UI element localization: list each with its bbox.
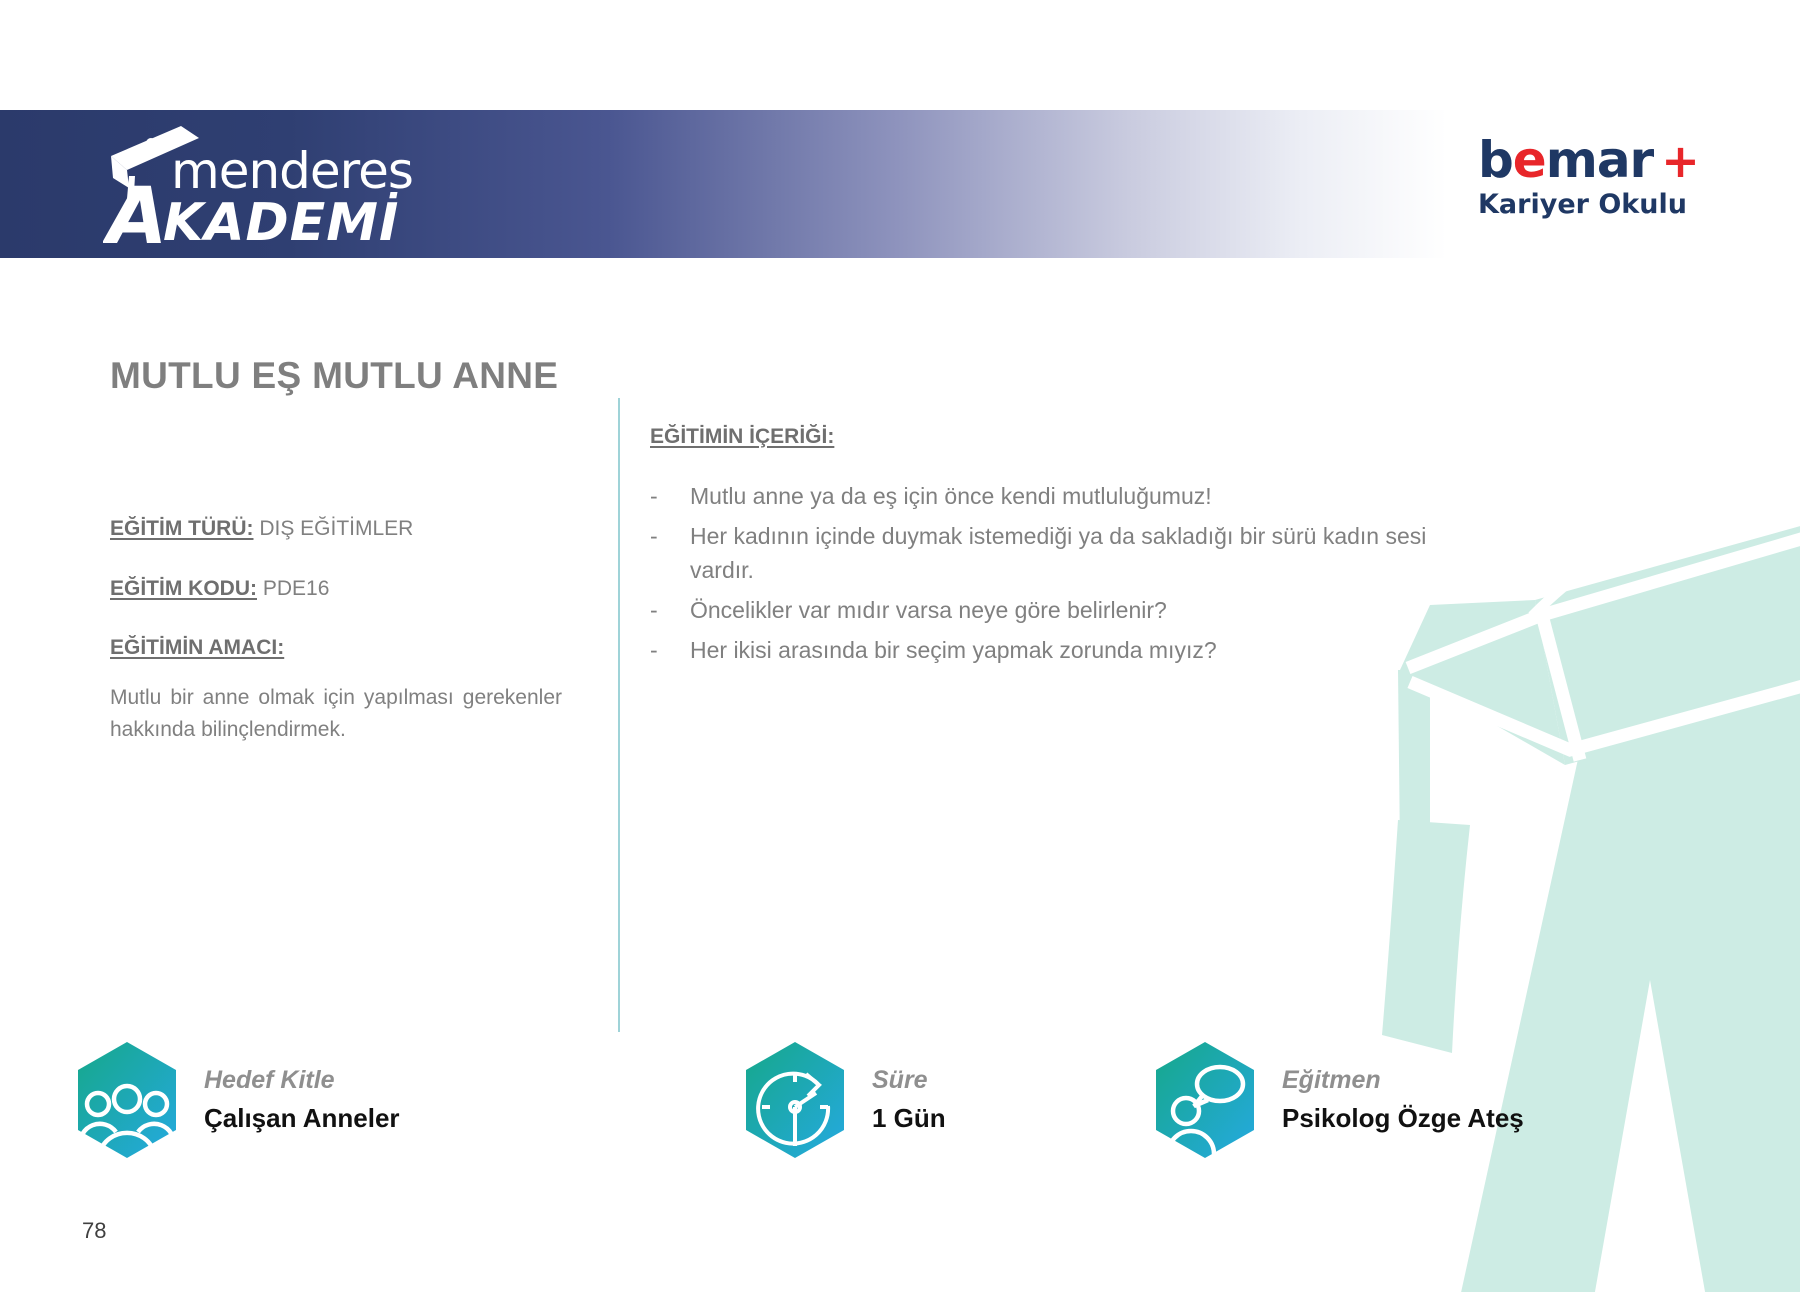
badge-value: Çalışan Anneler (204, 1102, 400, 1135)
badge-label: Hedef Kitle (204, 1065, 400, 1096)
training-purpose-label: EĞİTİMİN AMACI: (110, 636, 284, 660)
badge-label: Süre (872, 1065, 946, 1096)
badge-duration: Süre 1 Gün (740, 1040, 946, 1160)
page-number: 78 (82, 1218, 106, 1244)
bemar-subtitle: Kariyer Okulu (1478, 191, 1699, 218)
badge-text-block: Süre 1 Gün (872, 1065, 946, 1135)
bemar-kariyer-okulu-logo: bemar+ Kariyer Okulu (1478, 135, 1699, 218)
badge-target-audience: Hedef Kitle Çalışan Anneler (72, 1040, 400, 1160)
people-group-icon (72, 1040, 182, 1160)
list-item: - Mutlu anne ya da eş için önce kendi mu… (650, 479, 1430, 513)
svg-text:A: A (103, 172, 167, 248)
training-type-value: DIŞ EĞİTİMLER (259, 517, 413, 540)
bemar-letters-mar: mar (1546, 131, 1654, 189)
left-column: EĞİTİM TÜRÜ: DIŞ EĞİTİMLER EĞİTİM KODU: … (110, 515, 565, 747)
training-type-row: EĞİTİM TÜRÜ: DIŞ EĞİTİMLER (110, 515, 565, 543)
list-item: - Her ikisi arasında bir seçim yapmak zo… (650, 633, 1430, 667)
badge-text-block: Hedef Kitle Çalışan Anneler (204, 1065, 400, 1135)
bullet-text: Öncelikler var mıdır varsa neye göre bel… (690, 593, 1430, 627)
person-speech-bubble-icon (1150, 1040, 1260, 1160)
bullet-text: Her ikisi arasında bir seçim yapmak zoru… (690, 633, 1430, 667)
right-column: EĞİTİMİN İÇERİĞİ: - Mutlu anne ya da eş … (650, 425, 1430, 673)
bullet-dash-icon: - (650, 593, 690, 627)
training-purpose-block: EĞİTİMİN AMACI: Mutlu bir anne olmak içi… (110, 636, 565, 747)
svg-text:KADEMİ: KADEMİ (163, 192, 399, 248)
bullet-dash-icon: - (650, 519, 690, 587)
badge-label: Eğitmen (1282, 1065, 1524, 1096)
bemar-wordmark: bemar+ (1478, 135, 1699, 185)
clock-icon (740, 1040, 850, 1160)
badge-trainer: Eğitmen Psikolog Özge Ateş (1150, 1040, 1524, 1160)
list-item: - Öncelikler var mıdır varsa neye göre b… (650, 593, 1430, 627)
badge-text-block: Eğitmen Psikolog Özge Ateş (1282, 1065, 1524, 1135)
bullet-text: Her kadının içinde duymak istemediği ya … (690, 519, 1430, 587)
column-divider (618, 398, 620, 1032)
badge-value: 1 Gün (872, 1102, 946, 1135)
bullet-dash-icon: - (650, 633, 690, 667)
training-content-list: - Mutlu anne ya da eş için önce kendi mu… (650, 479, 1430, 667)
bemar-plus-sign: + (1661, 134, 1699, 188)
training-code-value: PDE16 (263, 577, 330, 600)
training-code-row: EĞİTİM KODU: PDE16 (110, 575, 565, 603)
bemar-letter-b: b (1478, 131, 1513, 189)
training-content-label: EĞİTİMİN İÇERİĞİ: (650, 425, 834, 449)
training-type-label: EĞİTİM TÜRÜ: (110, 517, 253, 540)
bemar-letter-e: e (1513, 131, 1546, 189)
training-purpose-text: Mutlu bir anne olmak için yapılması gere… (110, 682, 562, 747)
bullet-text: Mutlu anne ya da eş için önce kendi mutl… (690, 479, 1430, 513)
svg-text:menderes: menderes (171, 142, 413, 200)
badge-value: Psikolog Özge Ateş (1282, 1102, 1524, 1135)
training-catalog-page: A KADEMİ menderes bemar+ Kariyer Okulu M… (0, 0, 1800, 1292)
training-code-label: EĞİTİM KODU: (110, 577, 257, 600)
menderes-akademi-logo: A KADEMİ menderes (103, 118, 463, 248)
bullet-dash-icon: - (650, 479, 690, 513)
page-title: MUTLU EŞ MUTLU ANNE (110, 355, 558, 397)
list-item: - Her kadının içinde duymak istemediği y… (650, 519, 1430, 587)
